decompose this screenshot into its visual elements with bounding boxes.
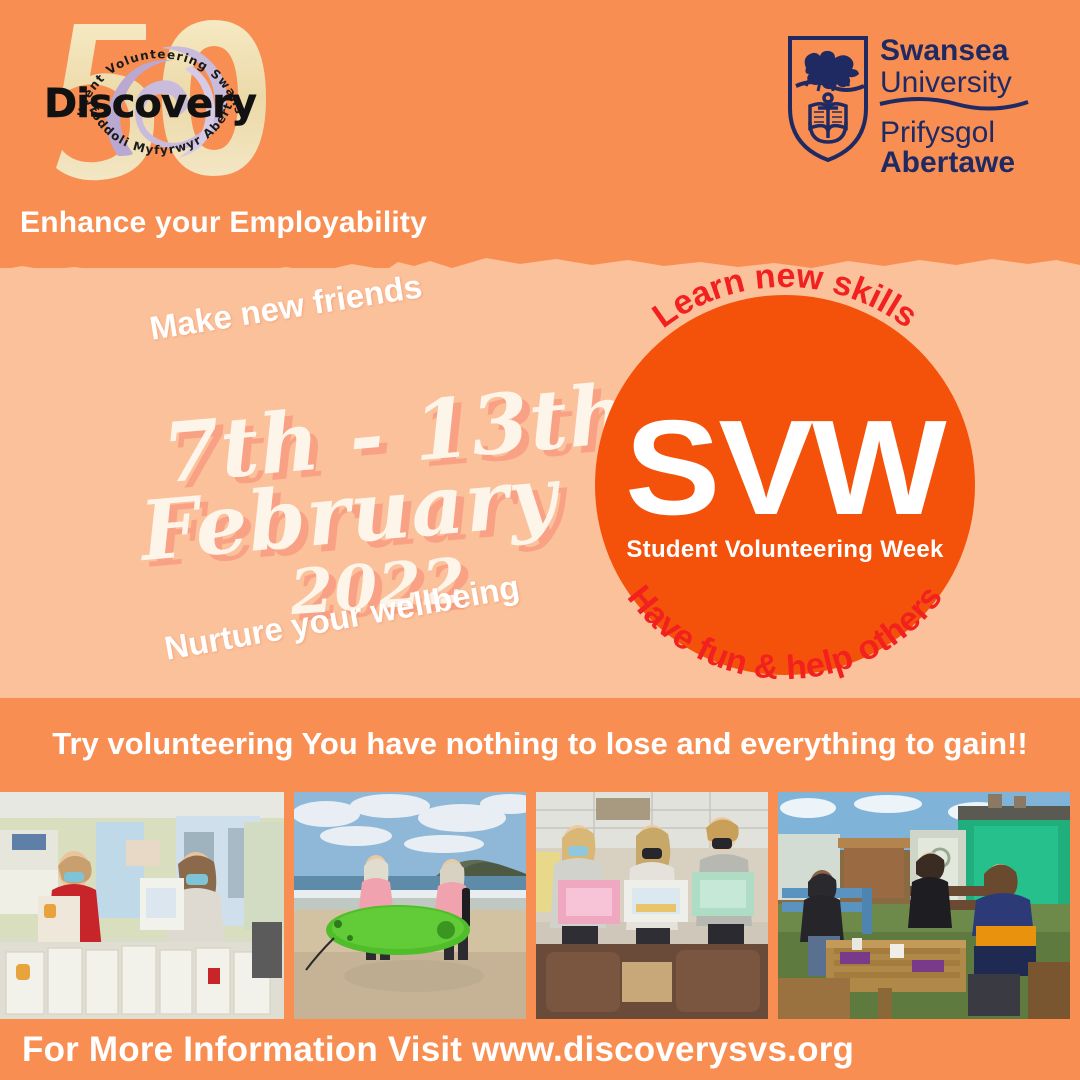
page-headline: Enhance your Employability (20, 206, 427, 240)
su-line1: Swansea (880, 34, 1009, 67)
discovery-wordmark: Discovery (44, 84, 256, 124)
su-line4: Abertawe (880, 146, 1015, 174)
svw-circle: SVW Student Volunteering Week (595, 295, 975, 675)
tagline-band: Try volunteering You have nothing to los… (0, 698, 1080, 790)
svw-initials: SVW (625, 406, 945, 530)
su-line3: Prifysgol (880, 116, 995, 149)
anchor-icon (810, 94, 846, 142)
photo-gift-bags (0, 792, 284, 1019)
dragon-icon (805, 51, 859, 91)
wave-divider-icon (880, 99, 1028, 109)
photo-allotment (778, 792, 1070, 1019)
svw-logo: SVW Student Volunteering Week Learn new … (595, 295, 975, 675)
poster-header: Student Volunteering Swansea Gwirfoddoli… (0, 0, 1080, 195)
photo-surfing (294, 792, 526, 1019)
footer-text: For More Information Visit www.discovery… (0, 1030, 854, 1070)
swansea-university-logo: Swansea University Prifysgol Abertawe (780, 24, 1032, 174)
su-line2: University (880, 66, 1012, 99)
footer-band: For More Information Visit www.discovery… (0, 1019, 1080, 1080)
poster-canvas: Student Volunteering Swansea Gwirfoddoli… (0, 0, 1080, 1080)
photo-strip (0, 792, 1080, 1019)
tagline-text: Try volunteering You have nothing to los… (52, 724, 1027, 764)
discovery-logo: Student Volunteering Swansea Gwirfoddoli… (18, 12, 288, 182)
photo-certificates (536, 792, 768, 1019)
